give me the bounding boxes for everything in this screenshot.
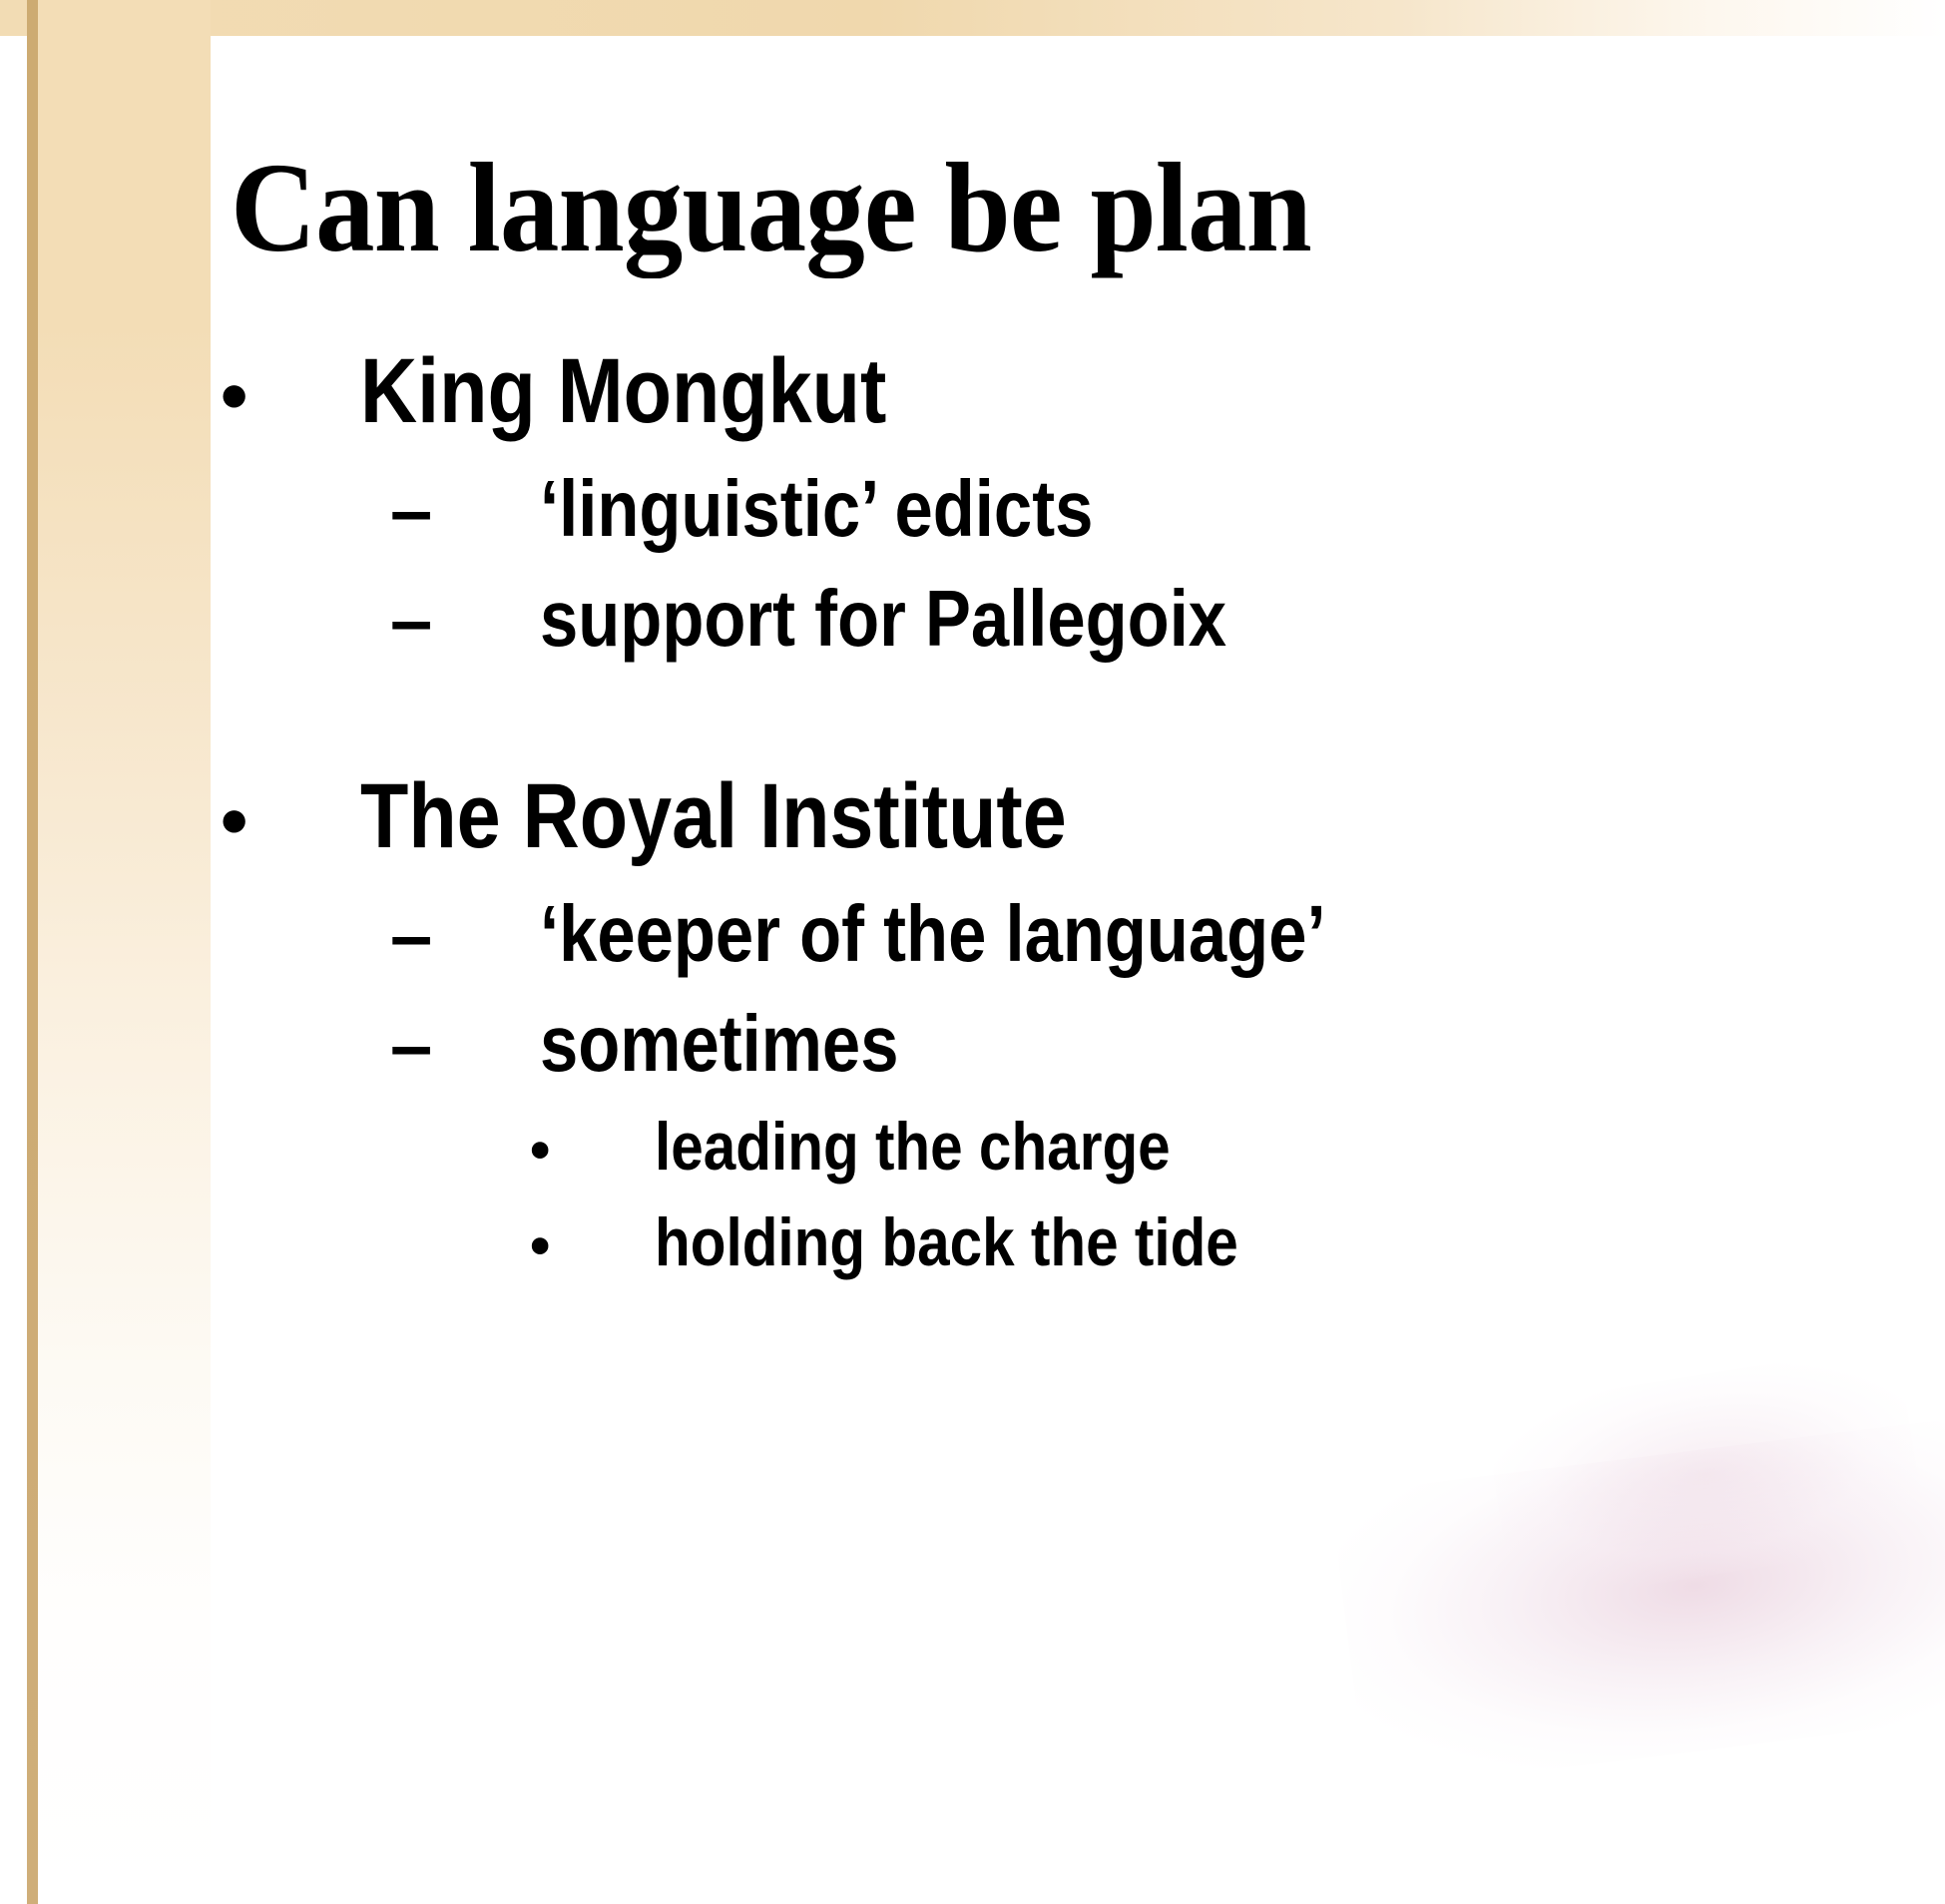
outline-item-label: sometimes — [540, 992, 898, 1096]
outline-item-label: leading the charge — [655, 1102, 1171, 1191]
outline-item-label: support for Pallegoix — [540, 567, 1226, 671]
left-accent-panel — [27, 0, 211, 1904]
outline-item-level1: • King Mongkut — [211, 335, 1945, 451]
outline-item-label: The Royal Institute — [360, 760, 1067, 872]
outline-item-level2: – sometimes — [211, 992, 1945, 1098]
background-watermark-secondary — [1483, 1343, 1928, 1606]
slide-body-outline: • King Mongkut – ‘linguistic’ edicts – s… — [211, 335, 1945, 1293]
outline-blank-line — [211, 677, 1945, 760]
dash-icon: – — [390, 459, 540, 563]
outline-item-level2: – support for Pallegoix — [211, 567, 1945, 673]
outline-item-level3: • holding back the tide — [211, 1197, 1945, 1291]
bullet-dot-icon: • — [221, 339, 360, 451]
outline-item-label: holding back the tide — [655, 1197, 1238, 1287]
dash-icon: – — [390, 569, 540, 673]
outline-item-label: King Mongkut — [360, 335, 886, 447]
outline-item-level2: – ‘linguistic’ edicts — [211, 457, 1945, 563]
left-vertical-rule-icon — [27, 0, 38, 1904]
outline-item-level2: – ‘keeper of the language’ — [211, 882, 1945, 988]
slide-content-page: Can language be plan • King Mongkut – ‘l… — [211, 36, 1945, 1904]
dash-icon: – — [390, 994, 540, 1098]
bullet-dot-icon: • — [530, 1201, 655, 1291]
dash-icon: – — [390, 884, 540, 988]
bullet-dot-icon: • — [221, 764, 360, 876]
background-watermark — [1330, 1417, 1945, 1792]
slide-title: Can language be plan — [231, 144, 1945, 271]
top-accent-band — [0, 0, 1945, 36]
outline-item-level3: • leading the charge — [211, 1102, 1945, 1195]
outline-item-label: ‘keeper of the language’ — [540, 882, 1326, 986]
bullet-dot-icon: • — [530, 1106, 655, 1195]
presentation-slide: Can language be plan • King Mongkut – ‘l… — [0, 0, 1945, 1904]
outline-item-level1: • The Royal Institute — [211, 760, 1945, 876]
outline-item-label: ‘linguistic’ edicts — [540, 457, 1093, 561]
